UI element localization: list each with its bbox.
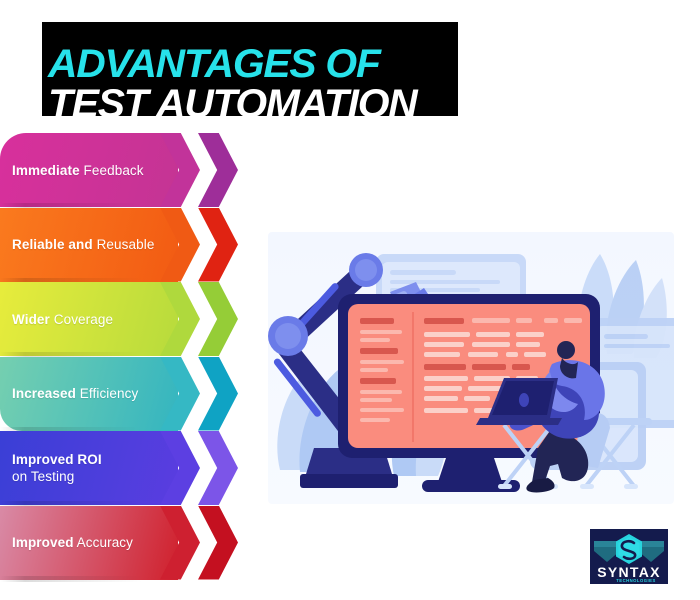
advantage-label: Immediate Feedback bbox=[12, 133, 144, 207]
advantage-label-regular: Reusable bbox=[93, 237, 155, 252]
chevron-right-icon bbox=[198, 357, 238, 431]
illustration-container bbox=[266, 232, 676, 504]
infographic-canvas: ADVANTAGES OF TEST AUTOMATION Immediate … bbox=[0, 0, 700, 600]
advantage-label: Increased Efficiency bbox=[12, 357, 138, 431]
advantage-label-bold: Reliable and bbox=[12, 237, 93, 252]
advantage-label-regular: Efficiency bbox=[76, 386, 138, 401]
advantage-row[interactable]: Immediate Feedback bbox=[0, 133, 248, 207]
advantage-label-regular: Accuracy bbox=[74, 535, 133, 550]
title-line-2: TEST AUTOMATION bbox=[48, 84, 416, 124]
advantage-label-regular: Feedback bbox=[80, 163, 144, 178]
advantage-row[interactable]: Improved Accuracy bbox=[0, 506, 248, 580]
advantage-label: Wider Coverage bbox=[12, 282, 113, 356]
chevron-right-icon bbox=[198, 506, 238, 580]
advantage-label: Improved ROIon Testing bbox=[12, 431, 102, 505]
advantage-label-regular: Coverage bbox=[50, 312, 113, 327]
robot-base-bottom bbox=[300, 474, 398, 488]
monitor-stand bbox=[438, 458, 502, 482]
advantage-row[interactable]: Increased Efficiency bbox=[0, 357, 248, 431]
advantage-label-bold: Immediate bbox=[12, 163, 80, 178]
chevron-right-icon bbox=[198, 431, 238, 505]
advantage-row[interactable]: Improved ROIon Testing bbox=[0, 431, 248, 505]
advantage-label-bold: Improved ROI bbox=[12, 452, 102, 467]
advantage-label-bold: Increased bbox=[12, 386, 76, 401]
chevron-right-icon bbox=[198, 208, 238, 282]
chevron-right-icon bbox=[198, 282, 238, 356]
advantage-label: Reliable and Reusable bbox=[12, 208, 154, 282]
page-title: ADVANTAGES OF TEST AUTOMATION bbox=[42, 22, 458, 116]
title-line-1: ADVANTAGES OF bbox=[48, 44, 380, 84]
advantage-label-line2-regular: on Testing bbox=[12, 469, 74, 484]
advantage-row[interactable]: Wider Coverage bbox=[0, 282, 248, 356]
advantage-label-bold: Improved bbox=[12, 535, 74, 550]
company-logo[interactable]: SYNTAX TECHNOLOGIES bbox=[590, 529, 668, 584]
advantage-label: Improved Accuracy bbox=[12, 506, 133, 580]
chevron-right-icon bbox=[198, 133, 238, 207]
advantage-label-bold: Wider bbox=[12, 312, 50, 327]
advantage-row[interactable]: Reliable and Reusable bbox=[0, 208, 248, 282]
advantages-list: Immediate FeedbackReliable and ReusableW… bbox=[0, 133, 248, 579]
logo-tagline-text: TECHNOLOGIES bbox=[616, 578, 656, 583]
